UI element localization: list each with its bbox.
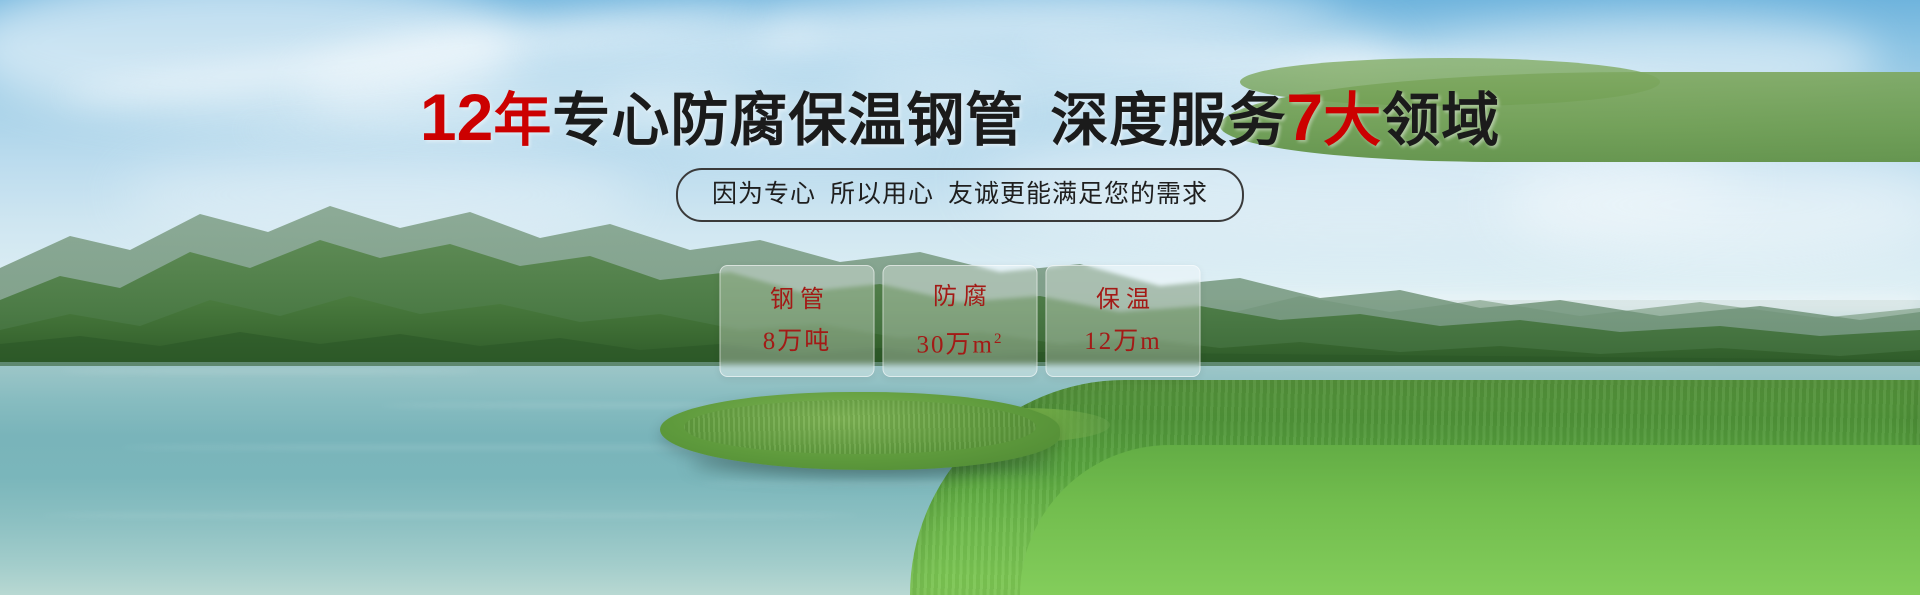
slogan-part-one: 因为专心	[712, 180, 816, 208]
hero-banner: 12年专心防腐保温钢管深度服务7大领域 因为专心所以用心友诚更能满足您的需求 钢…	[0, 0, 1920, 595]
headline-highlight-number: 7	[1286, 80, 1323, 154]
stat-card-title: 保温	[1090, 286, 1156, 314]
headline: 12年专心防腐保温钢管深度服务7大领域	[0, 86, 1920, 152]
stat-card-group: 钢管 8万吨 防腐 30万m2 保温 12万m	[720, 265, 1201, 377]
stat-card-steel-pipe[interactable]: 钢管 8万吨	[720, 265, 875, 377]
stat-card-anticorrosion[interactable]: 防腐 30万m2	[883, 265, 1038, 377]
foreground-grass	[1020, 445, 1920, 595]
stat-card-value-superscript: 2	[994, 331, 1004, 347]
stat-card-insulation[interactable]: 保温 12万m	[1046, 265, 1201, 377]
headline-highlight-unit: 大	[1323, 88, 1382, 153]
stat-card-value: 12万m	[1084, 328, 1161, 356]
slogan-part-three: 友诚更能满足您的需求	[948, 180, 1208, 208]
headline-segment-three: 领域	[1382, 88, 1500, 153]
slogan-part-two: 所以用心	[830, 180, 934, 208]
headline-years-unit: 年	[493, 88, 552, 153]
stat-card-title: 钢管	[764, 286, 830, 314]
headline-years-number: 12	[420, 80, 493, 154]
stat-card-value: 30万m2	[917, 325, 1004, 359]
stat-card-value-text: 12万m	[1084, 328, 1161, 355]
stat-card-value-text: 30万m	[917, 331, 994, 358]
stat-card-value: 8万吨	[763, 328, 832, 356]
slogan-pill: 因为专心所以用心友诚更能满足您的需求	[676, 168, 1244, 222]
headline-segment-two: 深度服务	[1050, 88, 1286, 153]
headline-segment-one: 专心防腐保温钢管	[552, 88, 1024, 153]
stat-card-title: 防腐	[927, 283, 993, 311]
stat-card-value-text: 8万吨	[763, 328, 832, 355]
